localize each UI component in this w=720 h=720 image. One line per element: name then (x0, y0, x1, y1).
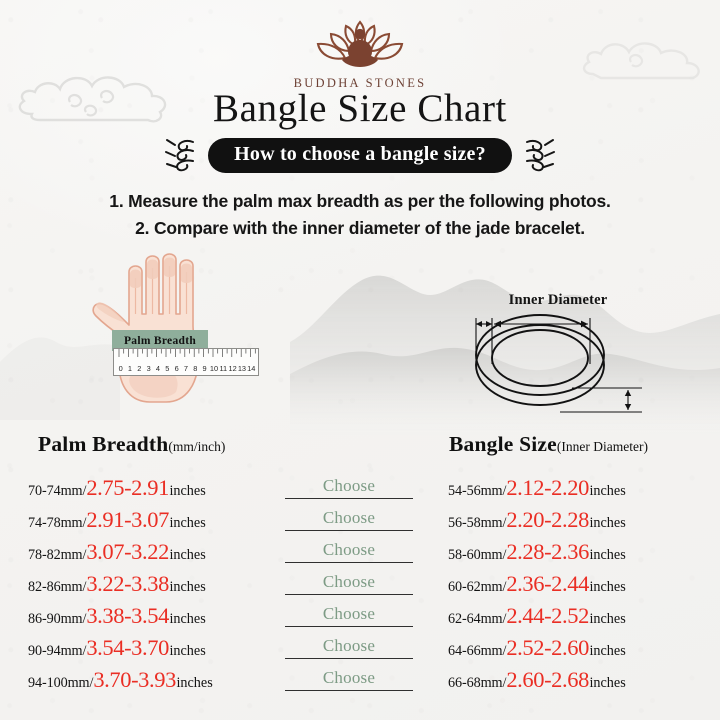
ruler-number: 6 (172, 364, 181, 373)
bangle-mm-value: 54-56mm/ (448, 483, 506, 500)
choose-link[interactable]: Choose (285, 573, 413, 590)
ruler-number: 2 (135, 364, 144, 373)
ruler-number: 4 (153, 364, 162, 373)
instruction-step-2: 2. Compare with the inner diameter of th… (0, 215, 720, 242)
palm-mm-value: 74-78mm/ (28, 515, 86, 532)
palm-mm-value: 82-86mm/ (28, 579, 86, 596)
choose-link[interactable]: Choose (285, 605, 413, 622)
bangle-unit-label: inches (589, 547, 625, 564)
palm-unit-label: inches (169, 547, 205, 564)
bangle-size-chart-page: BUDDHA STONES Bangle Size Chart How to c… (0, 0, 720, 720)
choose-cell[interactable]: Choose (285, 573, 413, 595)
ruler-tick-marks (114, 349, 260, 360)
ruler-number: 12 (228, 364, 237, 373)
bangle-inch-value: 2.12-2.20 (506, 477, 589, 500)
table-row: 66-68mm/ 2.60-2.68 inches (448, 669, 626, 692)
ruler-number: 1 (125, 364, 134, 373)
instruction-steps: 1. Measure the palm max breadth as per t… (0, 188, 720, 242)
table-row: 94-100mm/ 3.70-3.93 inches (28, 669, 213, 692)
palm-inch-value: 3.54-3.70 (86, 637, 169, 660)
palm-mm-value: 90-94mm/ (28, 643, 86, 660)
table-row: 70-74mm/ 2.75-2.91 inches (28, 477, 206, 500)
palm-breadth-units: (mm/inch) (168, 439, 225, 454)
palm-breadth-table-header: Palm Breadth(mm/inch) (38, 432, 225, 457)
choose-underline (285, 498, 413, 499)
table-row: 64-66mm/ 2.52-2.60 inches (448, 637, 626, 660)
palm-mm-value: 94-100mm/ (28, 675, 93, 692)
palm-unit-label: inches (169, 579, 205, 596)
table-row: 86-90mm/ 3.38-3.54 inches (28, 605, 206, 628)
choose-link[interactable]: Choose (285, 509, 413, 526)
palm-unit-label: inches (169, 515, 205, 532)
table-row: 58-60mm/ 2.28-2.36 inches (448, 541, 626, 564)
bangle-mm-value: 56-58mm/ (448, 515, 506, 532)
table-row: 56-58mm/ 2.20-2.28 inches (448, 509, 626, 532)
bangle-diameter-figure: Inner Diameter (452, 292, 664, 420)
ruler-number: 0 (116, 364, 125, 373)
choose-cell[interactable]: Choose (285, 541, 413, 563)
bangle-mm-value: 58-60mm/ (448, 547, 506, 564)
ruler-number: 3 (144, 364, 153, 373)
palm-inch-value: 3.07-3.22 (86, 541, 169, 564)
choose-underline (285, 530, 413, 531)
ruler-icon: 0 1 2 3 4 5 6 7 8 9 10 11 12 13 14 (113, 348, 259, 376)
table-row: 90-94mm/ 3.54-3.70 inches (28, 637, 206, 660)
choose-cell[interactable]: Choose (285, 509, 413, 531)
ruler-number: 9 (200, 364, 209, 373)
palm-inch-value: 3.22-3.38 (86, 573, 169, 596)
bangle-mm-value: 62-64mm/ (448, 611, 506, 628)
bangle-inch-value: 2.20-2.28 (506, 509, 589, 532)
bangle-inch-value: 2.44-2.52 (506, 605, 589, 628)
bangle-mm-value: 64-66mm/ (448, 643, 506, 660)
palm-inch-value: 3.70-3.93 (93, 669, 176, 692)
bangle-size-units: (Inner Diameter) (557, 439, 648, 454)
choose-cell[interactable]: Choose (285, 605, 413, 627)
choose-underline (285, 562, 413, 563)
bangle-size-title: Bangle Size (449, 432, 557, 456)
flourish-ornament-icon (163, 136, 197, 174)
bangle-inch-value: 2.28-2.36 (506, 541, 589, 564)
choose-cell[interactable]: Choose (285, 669, 413, 691)
bangle-unit-label: inches (589, 515, 625, 532)
question-banner: How to choose a bangle size? (0, 136, 720, 174)
bangle-size-table-header: Bangle Size(Inner Diameter) (449, 432, 648, 457)
bangle-unit-label: inches (589, 579, 625, 596)
palm-unit-label: inches (176, 675, 212, 692)
ruler-numbers: 0 1 2 3 4 5 6 7 8 9 10 11 12 13 14 (116, 360, 256, 376)
bangle-inch-value: 2.36-2.44 (506, 573, 589, 596)
choose-underline (285, 594, 413, 595)
bangle-unit-label: inches (589, 483, 625, 500)
choose-link[interactable]: Choose (285, 637, 413, 654)
page-title: Bangle Size Chart (0, 86, 720, 131)
ruler-number: 8 (191, 364, 200, 373)
palm-mm-value: 78-82mm/ (28, 547, 86, 564)
choose-underline (285, 690, 413, 691)
palm-mm-value: 70-74mm/ (28, 483, 86, 500)
ruler-number: 14 (247, 364, 256, 373)
palm-inch-value: 3.38-3.54 (86, 605, 169, 628)
ruler-number: 13 (237, 364, 246, 373)
palm-inch-value: 2.91-3.07 (86, 509, 169, 532)
ruler-number: 5 (163, 364, 172, 373)
table-row: 54-56mm/ 2.12-2.20 inches (448, 477, 626, 500)
choose-cell[interactable]: Choose (285, 477, 413, 499)
table-row: 62-64mm/ 2.44-2.52 inches (448, 605, 626, 628)
brand-logo: BUDDHA STONES (0, 12, 720, 91)
palm-measurement-figure: Palm Breadth (72, 252, 304, 420)
bangle-inch-value: 2.52-2.60 (506, 637, 589, 660)
lotus-buddha-logo-icon (298, 12, 422, 74)
table-row: 78-82mm/ 3.07-3.22 inches (28, 541, 206, 564)
bangle-unit-label: inches (589, 675, 625, 692)
table-row: 74-78mm/ 2.91-3.07 inches (28, 509, 206, 532)
bangle-inch-value: 2.60-2.68 (506, 669, 589, 692)
palm-unit-label: inches (169, 643, 205, 660)
palm-unit-label: inches (169, 611, 205, 628)
bangle-ring-diagram-icon (452, 292, 664, 420)
choose-underline (285, 626, 413, 627)
ruler-number: 7 (181, 364, 190, 373)
choose-link[interactable]: Choose (285, 477, 413, 494)
palm-inch-value: 2.75-2.91 (86, 477, 169, 500)
palm-mm-value: 86-90mm/ (28, 611, 86, 628)
table-row: 82-86mm/ 3.22-3.38 inches (28, 573, 206, 596)
bangle-unit-label: inches (589, 643, 625, 660)
table-row: 60-62mm/ 2.36-2.44 inches (448, 573, 626, 596)
flourish-ornament-icon (523, 136, 557, 174)
bangle-mm-value: 60-62mm/ (448, 579, 506, 596)
choose-underline (285, 658, 413, 659)
palm-unit-label: inches (169, 483, 205, 500)
palm-breadth-title: Palm Breadth (38, 432, 168, 456)
bangle-mm-value: 66-68mm/ (448, 675, 506, 692)
ruler-number: 10 (209, 364, 218, 373)
choose-link[interactable]: Choose (285, 541, 413, 558)
instruction-step-1: 1. Measure the palm max breadth as per t… (0, 188, 720, 215)
choose-cell[interactable]: Choose (285, 637, 413, 659)
choose-link[interactable]: Choose (285, 669, 413, 686)
ruler-number: 11 (219, 364, 228, 373)
inner-diameter-label: Inner Diameter (452, 292, 664, 309)
question-pill: How to choose a bangle size? (208, 138, 512, 173)
bangle-unit-label: inches (589, 611, 625, 628)
